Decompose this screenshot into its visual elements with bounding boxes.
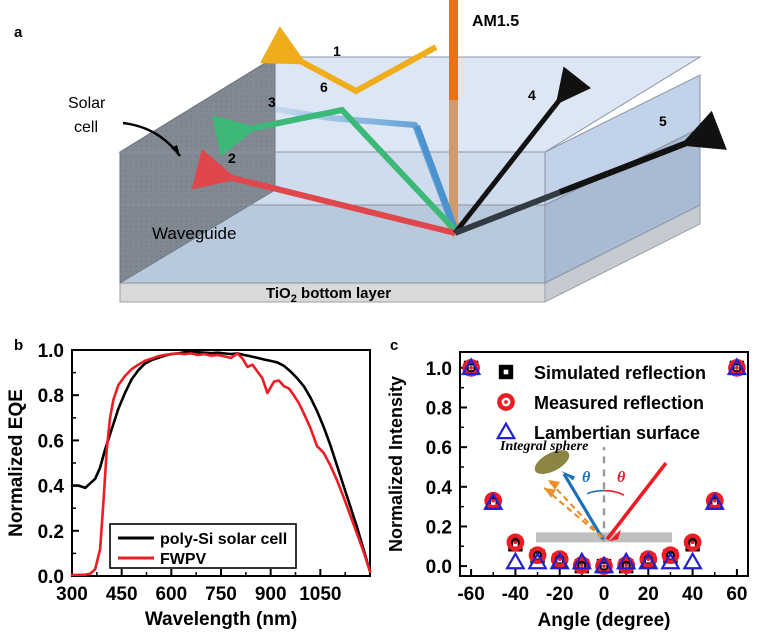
- y-tick-label-c: 1.0: [426, 359, 452, 380]
- legend-b: poly-Si solar cellFWPV: [110, 524, 296, 568]
- x-tick-label-b: 450: [106, 584, 138, 605]
- inset-integral-sphere: Integral sphereθθ: [499, 439, 672, 542]
- y-tick-label-b: 0.4: [38, 477, 65, 498]
- marker-triangle: [684, 554, 701, 568]
- y-tick-label-b: 0.2: [38, 522, 64, 543]
- x-tick-label-c: -60: [457, 584, 484, 605]
- panel-c-letter: c: [390, 337, 398, 354]
- x-tick-label-b: 600: [155, 584, 187, 605]
- legend-label-c: Measured reflection: [534, 393, 704, 413]
- y-tick-label-b: 1.0: [38, 341, 64, 362]
- x-tick-label-c: 40: [682, 584, 703, 605]
- legend-marker-square-inner: [504, 370, 509, 375]
- panel-a-letter: a: [14, 24, 22, 41]
- inset-theta-left: θ: [582, 469, 591, 486]
- x-axis-label-c: Angle (degree): [537, 610, 670, 631]
- inset-scatter-arrow: [548, 480, 560, 490]
- tio2-text-pre: TiO: [266, 285, 291, 302]
- am15-label: AM1.5: [472, 13, 519, 30]
- x-tick-label-c: 0: [599, 584, 610, 605]
- inset-theta-arc-left: [587, 491, 604, 494]
- x-tick-label-b: 900: [255, 584, 287, 605]
- marker-circle-inner: [602, 564, 606, 568]
- panel-b-letter: b: [14, 337, 23, 354]
- y-tick-label-c: 0.8: [426, 399, 452, 420]
- legend-label-c: Lambertian surface: [534, 423, 700, 443]
- marker-circle-inner: [514, 540, 518, 544]
- x-tick-label-c: 20: [638, 584, 659, 605]
- x-tick-label-b: 1050: [299, 584, 341, 605]
- plot-frame-c: [460, 352, 748, 576]
- marker-circle-inner: [691, 540, 695, 544]
- legend-marker-triangle: [498, 424, 515, 438]
- ray-5-label: 5: [659, 113, 667, 129]
- marker-circle-inner: [491, 499, 495, 503]
- x-tick-label-c: -40: [502, 584, 529, 605]
- y-tick-label-c: 0.2: [426, 517, 452, 538]
- ray-6-label: 6: [320, 79, 328, 95]
- inset-scatter-ray: [548, 480, 602, 537]
- y-tick-label-b: 0.6: [38, 431, 64, 452]
- legend-label-b: poly-Si solar cell: [160, 531, 287, 548]
- y-tick-label-b: 0.8: [38, 386, 64, 407]
- x-tick-label-c: 60: [726, 584, 747, 605]
- legend-marker-circle-inner: [504, 400, 508, 404]
- ray-3-label: 3: [268, 94, 276, 110]
- inset-incident-ray: [607, 463, 666, 539]
- marker-triangle: [507, 554, 524, 568]
- tio2-text-post: bottom layer: [297, 285, 391, 302]
- marker-circle-inner: [580, 563, 584, 567]
- legend-label-c: Simulated reflection: [534, 363, 706, 383]
- y-tick-label-c: 0.4: [426, 478, 453, 499]
- marker-circle-inner: [735, 366, 739, 370]
- panel-a-schematic: a: [0, 0, 758, 325]
- legend-label-b: FWPV: [160, 551, 207, 568]
- inset-theta-right: θ: [617, 469, 626, 486]
- ray-1-label: 1: [333, 43, 341, 59]
- ray-2-label: 2: [228, 150, 236, 166]
- panel-b-eqe-chart: b30045060075090010500.00.20.40.60.81.0Wa…: [0, 328, 378, 643]
- legend-c: Simulated reflectionMeasured reflectionL…: [498, 363, 706, 443]
- eqe-chart-svg: b30045060075090010500.00.20.40.60.81.0Wa…: [0, 328, 378, 643]
- waveguide-label: Waveguide: [152, 224, 236, 243]
- marker-circle-inner: [469, 366, 473, 370]
- y-tick-label-c: 0.0: [426, 557, 452, 578]
- x-axis-label-b: Wavelength (nm): [145, 609, 297, 630]
- y-tick-label-b: 0.0: [38, 567, 64, 588]
- solar-cell-label-line2: cell: [74, 119, 98, 136]
- marker-circle-inner: [624, 563, 628, 567]
- y-axis-label-b: Normalized EQE: [6, 389, 27, 537]
- inset-theta-arc-right: [604, 491, 624, 495]
- panel-c-reflection-chart: c-60-40-2002040600.00.20.40.60.81.0Integ…: [378, 328, 758, 643]
- inset-scatter-ray: [544, 488, 602, 538]
- y-axis-label-c: Normalized Intensity: [386, 376, 406, 552]
- marker-circle-inner: [713, 499, 717, 503]
- waveguide-schematic-svg: AM1.5 b 1 6 3 2 4 5 Solar cell Waveguide…: [0, 0, 758, 325]
- ray-4-label: 4: [528, 87, 536, 103]
- reflection-chart-svg: c-60-40-2002040600.00.20.40.60.81.0Integ…: [378, 328, 758, 643]
- x-tick-label-b: 750: [205, 584, 237, 605]
- solar-cell-label-line1: Solar: [68, 95, 106, 112]
- y-tick-label-c: 0.6: [426, 438, 452, 459]
- x-tick-label-c: -20: [546, 584, 573, 605]
